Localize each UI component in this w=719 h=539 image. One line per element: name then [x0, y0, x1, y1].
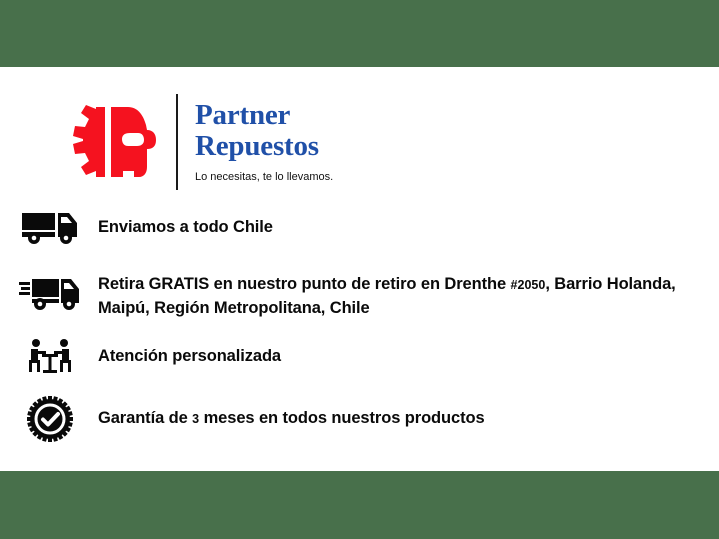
promo-banner: Partner Repuestos Lo necesitas, te lo ll…	[0, 0, 719, 539]
feature-text-address-number: #2050	[511, 278, 546, 292]
top-green-band	[0, 0, 719, 67]
feature-text-main: Atención personalizada	[98, 347, 281, 365]
gear-car-logo-icon	[60, 101, 160, 183]
moving-truck-icon	[18, 271, 82, 313]
feature-label-warranty: Garantía de 3 meses en todos nuestros pr…	[82, 398, 708, 431]
feature-label-attention: Atención personalizada	[82, 336, 708, 368]
feature-row-attention: Atención personalizada	[18, 336, 708, 380]
bottom-green-band	[0, 471, 719, 539]
brand-line-repuestos: Repuestos	[195, 131, 333, 162]
brand-tagline: Lo necesitas, te lo llevamos.	[195, 170, 333, 184]
brand-logo: Partner Repuestos Lo necesitas, te lo ll…	[60, 92, 333, 192]
feature-row-warranty: Garantía de 3 meses en todos nuestros pr…	[18, 398, 708, 442]
feature-label-pickup: Retira GRATIS en nuestro punto de retiro…	[82, 271, 708, 320]
brand-line-partner: Partner	[195, 100, 333, 131]
feature-text-main: Garantía de	[98, 409, 192, 427]
feature-list: Enviamos a todo Chile	[18, 207, 708, 442]
guarantee-seal-check-icon	[18, 398, 82, 440]
feature-row-shipping: Enviamos a todo Chile	[18, 207, 708, 251]
feature-text-main: Enviamos a todo Chile	[98, 218, 273, 236]
feature-row-pickup: Retira GRATIS en nuestro punto de retiro…	[18, 271, 708, 320]
logo-divider	[176, 94, 178, 190]
feature-text-tail: meses en todos nuestros productos	[199, 409, 484, 427]
brand-text: Partner Repuestos Lo necesitas, te lo ll…	[195, 100, 333, 184]
feature-text-main: Retira GRATIS en nuestro punto de retiro…	[98, 275, 511, 293]
feature-label-shipping: Enviamos a todo Chile	[82, 207, 708, 239]
people-at-table-icon	[18, 336, 82, 378]
delivery-truck-icon	[18, 207, 82, 249]
